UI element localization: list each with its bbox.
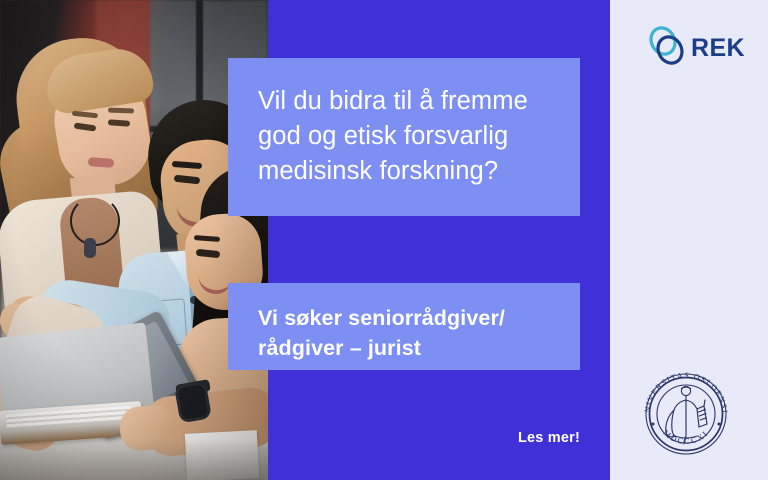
banner-root: Vil du bidra til å fremme god og etisk f… [0,0,768,480]
headline-card: Vil du bidra til å fremme god og etisk f… [228,58,580,216]
subheadline-card: Vi søker seniorrådgiver/ rådgiver – juri… [228,283,580,370]
subheadline-text: Vi søker seniorrådgiver/ rådgiver – juri… [258,303,550,363]
headline-text: Vil du bidra til å fremme god og etisk f… [258,84,550,189]
rek-logo[interactable]: REK [648,26,740,70]
uio-apollo-seal: UNIVERSITAS OSLOENSIS MDCCCXI [634,362,738,466]
read-more-link[interactable]: Les mer! [380,430,580,446]
rek-wordmark: REK [691,36,745,61]
rek-interlocking-rings-icon [648,26,686,71]
